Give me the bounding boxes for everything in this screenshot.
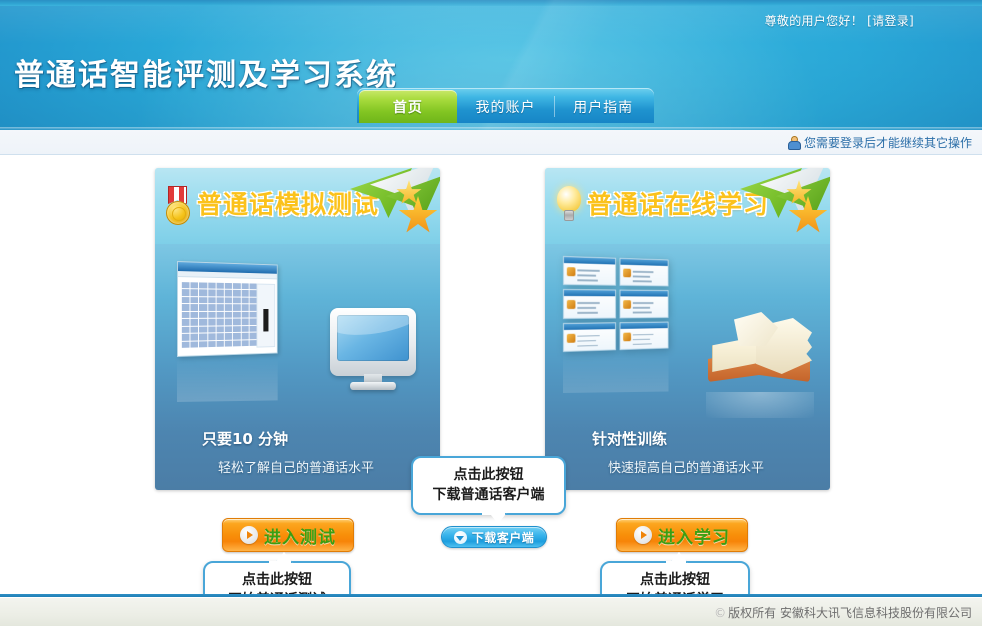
header-top-strip: [0, 0, 982, 6]
enter-test-button[interactable]: 进入测试: [222, 518, 354, 552]
card-online-study-caption: 针对性训练 快速提高自己的普通话水平: [545, 428, 830, 476]
test-software-preview: [177, 261, 278, 357]
notice-bar: 您需要登录后才能继续其它操作: [0, 130, 982, 155]
tab-home-label: 首页: [393, 97, 423, 117]
user-icon: [787, 136, 800, 149]
card-online-study-caption-sub: 快速提高自己的普通话水平: [592, 457, 830, 476]
page-title: 普通话智能评测及学习系统: [14, 50, 398, 94]
card-online-study-caption-main: 针对性训练: [592, 428, 830, 449]
callout-start-learn-line1: 点击此按钮: [614, 570, 736, 590]
download-client-button[interactable]: 下载客户端: [441, 526, 547, 548]
paper-plane-star-icon: [736, 168, 830, 244]
tab-user-guide[interactable]: 用户指南: [554, 90, 652, 123]
medal-icon: [163, 186, 193, 228]
site-footer: ©版权所有 安徽科大讯飞信息科技股份有限公司: [0, 597, 982, 626]
tab-home[interactable]: 首页: [359, 90, 457, 123]
paper-plane-star-icon: [346, 168, 440, 244]
monitor-icon: [330, 308, 416, 392]
main-nav: 首页 我的账户 用户指南: [357, 88, 654, 123]
copyright-mark: ©: [714, 606, 726, 620]
greeting-area: 尊敬的用户您好！ [请登录]: [765, 12, 914, 29]
study-software-preview: [563, 256, 669, 352]
tab-user-guide-label: 用户指南: [573, 97, 633, 117]
arrow-right-icon: [240, 526, 258, 544]
login-link[interactable]: [请登录]: [867, 14, 914, 28]
open-book-icon: [706, 310, 814, 392]
card-mock-test-caption: 只要10 分钟 轻松了解自己的普通话水平: [155, 428, 440, 476]
book-reflection: [706, 392, 814, 418]
arrow-right-icon: [634, 526, 652, 544]
page-root: 尊敬的用户您好！ [请登录] 普通话智能评测及学习系统 首页 我的账户 用户指南…: [0, 0, 982, 626]
callout-download-line1: 点击此按钮: [425, 465, 552, 485]
tab-my-account-label: 我的账户: [476, 97, 536, 117]
callout-start-test-line1: 点击此按钮: [217, 570, 337, 590]
callout-download-line2: 下载普通话客户端: [425, 485, 552, 505]
card-mock-test-caption-sub: 轻松了解自己的普通话水平: [202, 457, 440, 476]
card-mock-test-caption-main: 只要10 分钟: [202, 428, 440, 449]
copyright-body: 版权所有 安徽科大讯飞信息科技股份有限公司: [728, 606, 972, 620]
card-online-study[interactable]: 普通话在线学习: [545, 168, 830, 490]
notice-text: 您需要登录后才能继续其它操作: [804, 134, 972, 151]
enter-learn-button[interactable]: 进入学习: [616, 518, 748, 552]
download-client-button-label: 下载客户端: [472, 529, 535, 546]
card-online-study-banner: 普通话在线学习: [545, 168, 830, 244]
copyright-text: ©版权所有 安徽科大讯飞信息科技股份有限公司: [714, 604, 972, 621]
site-header: 尊敬的用户您好！ [请登录] 普通话智能评测及学习系统 首页 我的账户 用户指南: [0, 0, 982, 130]
lightbulb-icon: [553, 184, 585, 228]
tab-my-account[interactable]: 我的账户: [457, 90, 555, 123]
enter-learn-button-label: 进入学习: [658, 523, 730, 548]
greeting-text: 尊敬的用户您好！: [765, 14, 863, 28]
study-preview-reflection: [563, 353, 669, 393]
enter-test-button-label: 进入测试: [264, 523, 336, 548]
login-required-notice: 您需要登录后才能继续其它操作: [787, 134, 972, 151]
download-arrow-icon: [454, 531, 467, 544]
callout-download-client: 点击此按钮 下载普通话客户端: [411, 456, 566, 515]
card-mock-test-banner: 普通话模拟测试: [155, 168, 440, 244]
card-mock-test[interactable]: 普通话模拟测试: [155, 168, 440, 490]
test-preview-reflection: [177, 358, 278, 402]
